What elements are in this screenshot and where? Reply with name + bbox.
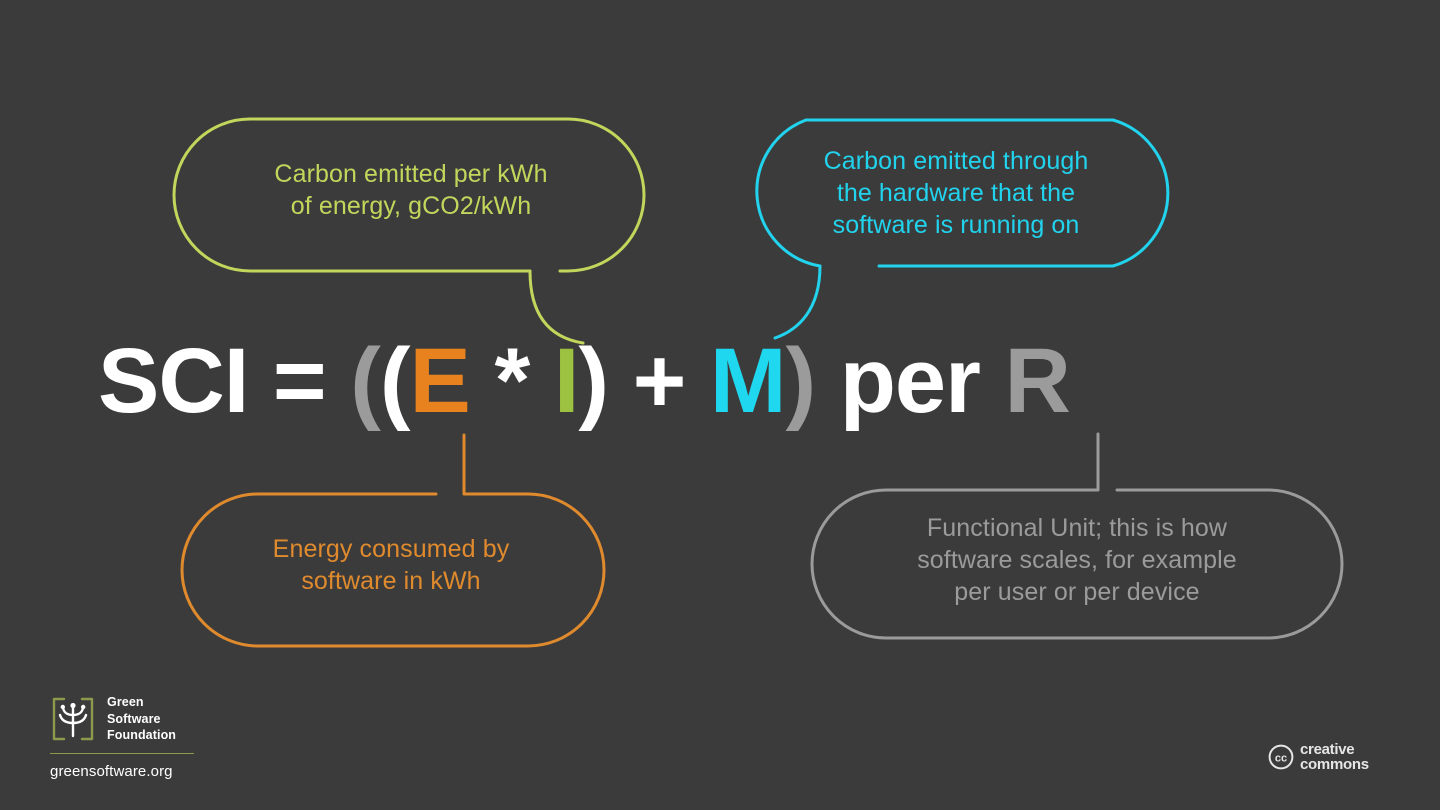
callout-bubble-intensity (174, 119, 644, 343)
creative-commons-badge-icon: cc (1268, 744, 1294, 770)
connector-functional-unit (1090, 434, 1098, 490)
formula-token-11: per (815, 335, 1004, 427)
formula-token-12: R (1004, 335, 1069, 427)
creative-commons-logo[interactable]: cc creative commons (1268, 742, 1369, 773)
formula-token-0: SCI (98, 335, 248, 427)
callout-label-embodied: Carbon emitted through the hardware that… (756, 145, 1156, 241)
gsf-url[interactable]: greensoftware.org (50, 763, 260, 780)
connector-energy (464, 435, 478, 494)
gsf-sapling-icon (50, 696, 96, 742)
formula-token-8: + (608, 335, 710, 427)
gsf-wordmark: Green Software Foundation (107, 694, 176, 744)
formula-token-3: ( (380, 335, 410, 427)
formula-token-1: = (248, 335, 350, 427)
gsf-divider (50, 753, 194, 754)
formula-token-4: E (410, 335, 470, 427)
creative-commons-wordmark: creative commons (1300, 742, 1369, 773)
callout-label-energy: Energy consumed by software in kWh (196, 533, 586, 597)
formula-token-7: ) (578, 335, 608, 427)
svg-text:cc: cc (1275, 753, 1287, 765)
bubble-tail-embodied (775, 266, 820, 338)
callout-label-intensity: Carbon emitted per kWh of energy, gCO2/k… (196, 158, 626, 222)
formula-token-6: I (554, 335, 579, 427)
formula-token-9: M (710, 335, 786, 427)
green-software-foundation-logo[interactable]: Green Software Foundation greensoftware.… (50, 694, 260, 780)
formula-token-5: * (470, 335, 554, 427)
callout-label-functional-unit: Functional Unit; this is how software sc… (838, 512, 1316, 608)
formula-token-2: ( (350, 335, 380, 427)
formula-token-10: ) (786, 335, 816, 427)
sci-formula: SCI = ((E * I) + M) per R (98, 329, 1070, 433)
slide-canvas: Carbon emitted per kWh of energy, gCO2/k… (0, 0, 1440, 810)
